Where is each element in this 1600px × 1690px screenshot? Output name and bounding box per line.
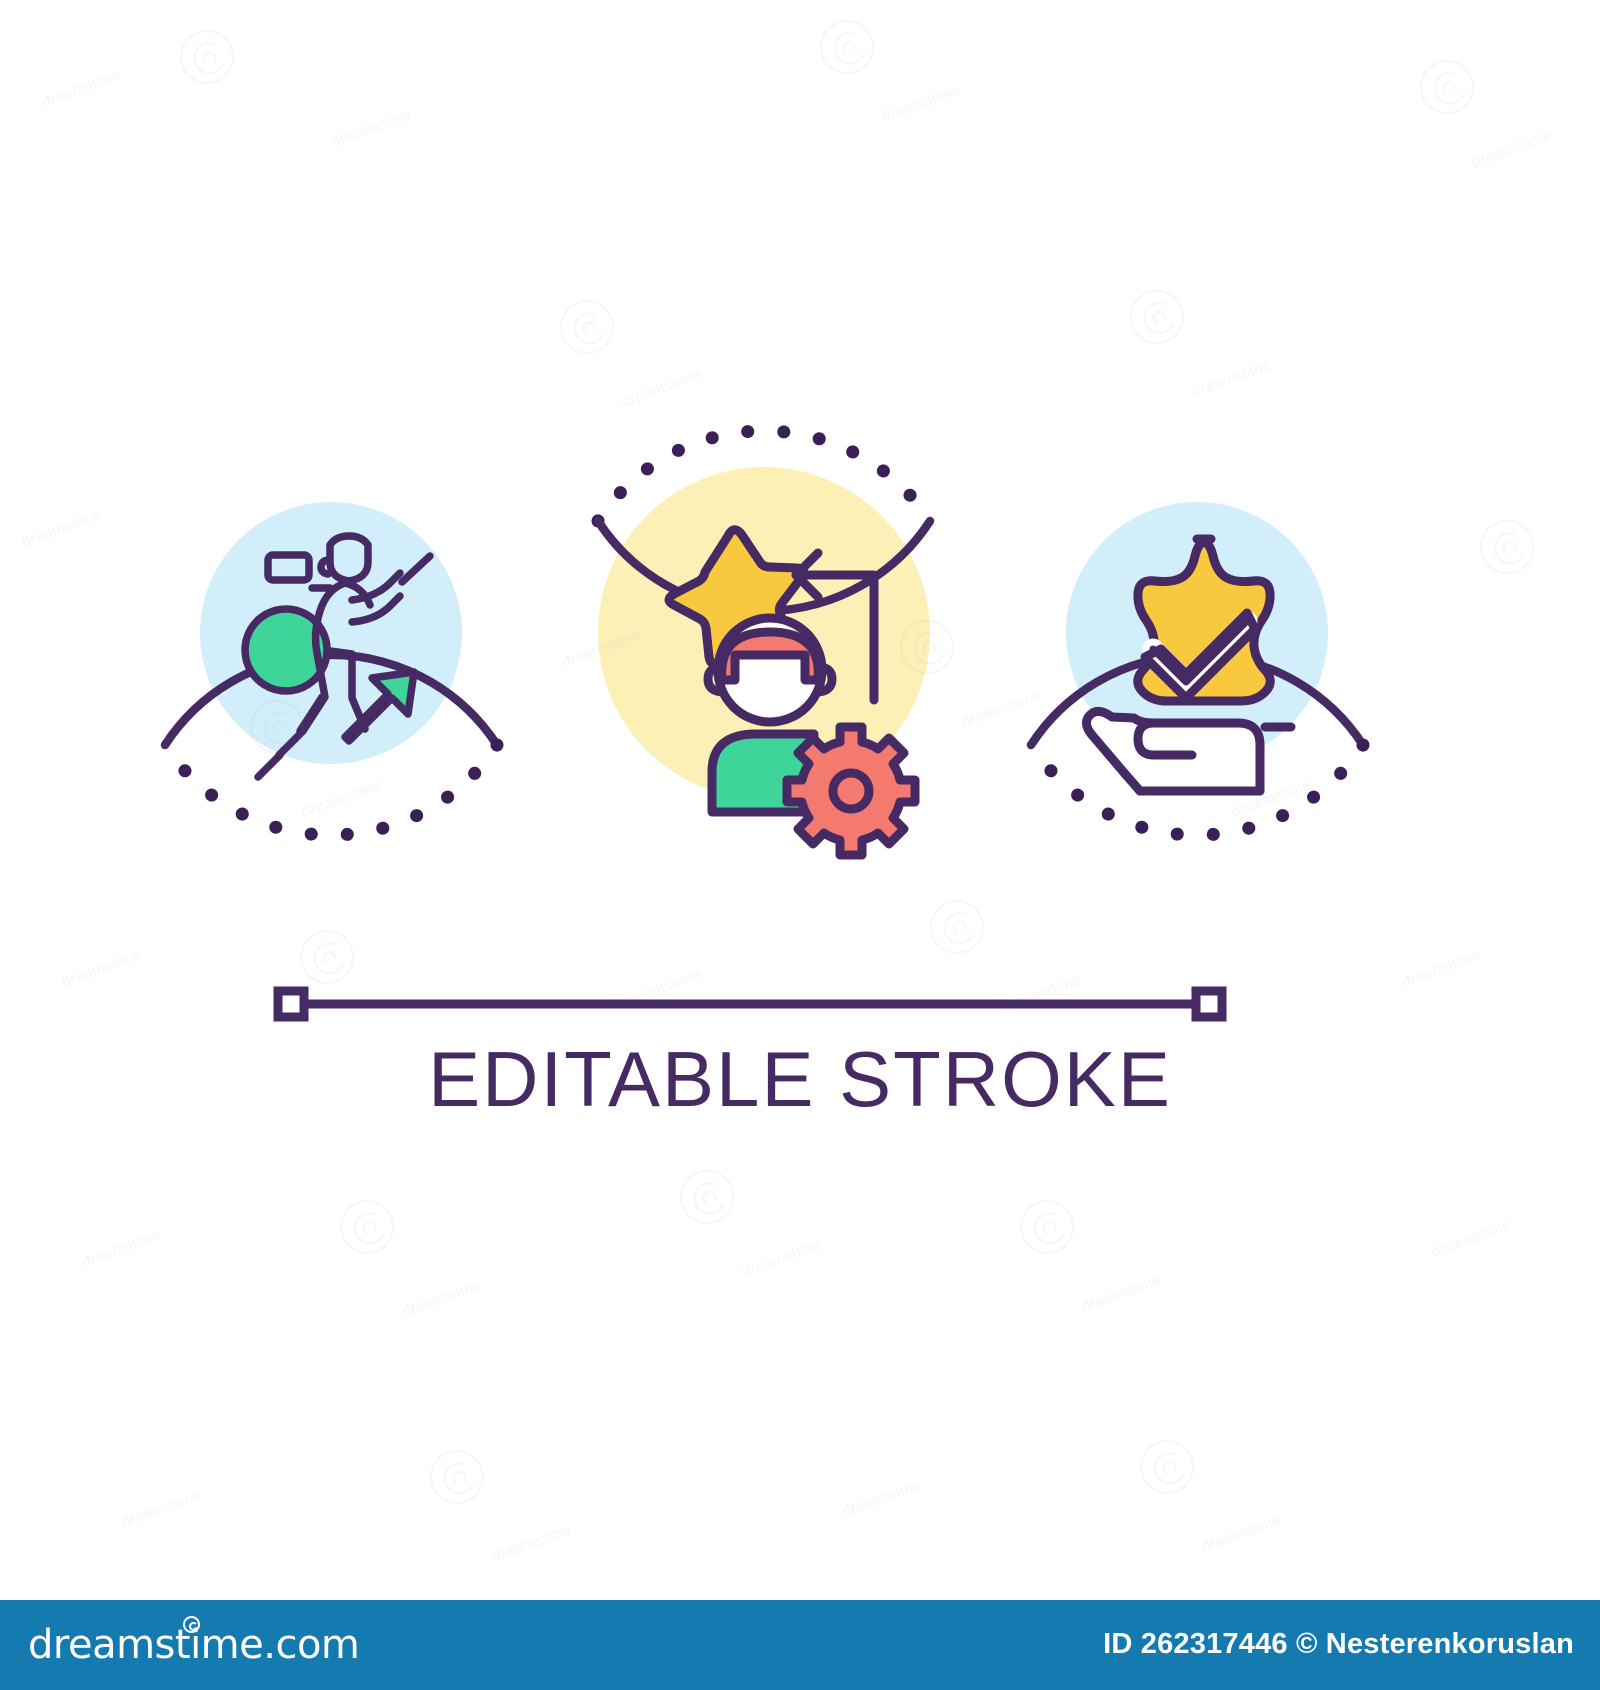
right-circle-group [1031,502,1363,835]
image-credit: ID 262317446 © Nesterenkoruslan [1103,1628,1574,1661]
center-circle-group [598,431,930,855]
dreamstime-footer-bar: dreamstime.com ID 262317446 © Nesterenko… [0,1600,1600,1690]
gear [787,727,915,855]
editable-stroke-text: EDITABLE STROKE [428,1035,1172,1123]
stroke-width-gauge [278,991,1222,1017]
motion-line-lower [258,755,280,777]
illustration-canvas: .ol { fill:none; stroke:#452a63; stroke-… [0,0,1600,1690]
spiral-icon [183,1616,200,1633]
loop-concept-illustration: .ol { fill:none; stroke:#452a63; stroke-… [0,0,1600,1600]
left-circle-group [165,502,497,835]
editable-stroke-label: EDITABLE STROKE [0,1040,1600,1118]
